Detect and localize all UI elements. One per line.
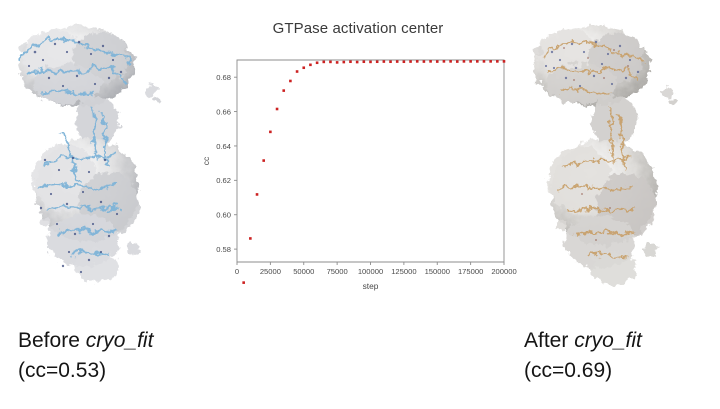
y-tick-label: 0.58 (216, 245, 231, 254)
data-point (343, 61, 346, 64)
x-tick-label: 175000 (458, 267, 483, 276)
data-point (389, 60, 392, 63)
data-point (289, 80, 292, 83)
data-point (496, 60, 499, 63)
data-point (483, 60, 486, 63)
y-tick-label: 0.64 (216, 142, 231, 151)
caption-after: After cryo_fit (cc=0.69) (524, 326, 642, 386)
data-point (376, 60, 379, 63)
ribosome-density-after-svg (518, 8, 713, 318)
molecule-image-before (5, 8, 200, 318)
data-point (463, 60, 466, 63)
data-point (476, 60, 479, 63)
scatter-plot: 0250005000075000100000125000150000175000… (198, 10, 518, 306)
caption-before-prefix: Before (18, 329, 86, 352)
x-tick-label: 0 (235, 267, 239, 276)
x-tick-label: 125000 (391, 267, 416, 276)
data-point (409, 60, 412, 63)
data-point (449, 60, 452, 63)
data-point (256, 193, 259, 196)
x-tick-label: 150000 (425, 267, 450, 276)
molecule-image-after (518, 8, 713, 318)
x-tick-label: 75000 (327, 267, 348, 276)
data-point (369, 61, 372, 64)
y-tick-label: 0.60 (216, 211, 231, 220)
data-point (262, 159, 265, 162)
density-surface-before (19, 26, 161, 283)
x-tick-label: 25000 (260, 267, 281, 276)
caption-before-cc: (cc=0.53) (18, 356, 153, 386)
y-tick-label: 0.66 (216, 107, 231, 116)
data-point (269, 131, 272, 134)
data-point (489, 60, 492, 63)
caption-before: Before cryo_fit (cc=0.53) (18, 326, 153, 386)
data-point (249, 237, 252, 240)
ribosome-density-before-svg (5, 8, 200, 318)
caption-before-program: cryo_fit (86, 329, 154, 352)
y-axis-title: cc (201, 157, 211, 165)
caption-after-program: cryo_fit (574, 329, 642, 352)
data-point (416, 60, 419, 63)
x-tick-label: 50000 (293, 267, 314, 276)
data-point (349, 60, 352, 63)
data-point (309, 64, 312, 67)
data-point (469, 60, 472, 63)
data-point (322, 61, 325, 64)
data-point (363, 60, 366, 63)
data-point (396, 60, 399, 63)
y-tick-label: 0.68 (216, 73, 231, 82)
chart-panel: GTPase activation center 025000500007500… (198, 10, 518, 306)
data-point (429, 60, 432, 63)
plot-frame (237, 60, 504, 262)
x-tick-label: 200000 (491, 267, 516, 276)
x-axis-title: step (363, 281, 379, 291)
data-point (242, 281, 245, 284)
data-point (423, 60, 426, 63)
data-point (282, 89, 285, 92)
caption-after-cc: (cc=0.69) (524, 356, 642, 386)
data-point (329, 61, 332, 64)
data-point (503, 60, 506, 63)
data-point (302, 66, 305, 69)
data-point (436, 60, 439, 63)
data-point (403, 60, 406, 63)
x-tick-label: 100000 (358, 267, 383, 276)
data-point (316, 61, 319, 64)
data-point (356, 61, 359, 64)
y-tick-label: 0.62 (216, 176, 231, 185)
caption-after-prefix: After (524, 329, 574, 352)
data-point (276, 108, 279, 111)
density-surface-after (534, 26, 678, 285)
data-point (456, 60, 459, 63)
data-point (336, 61, 339, 64)
data-point (296, 70, 299, 73)
data-point (383, 60, 386, 63)
data-point (443, 60, 446, 63)
